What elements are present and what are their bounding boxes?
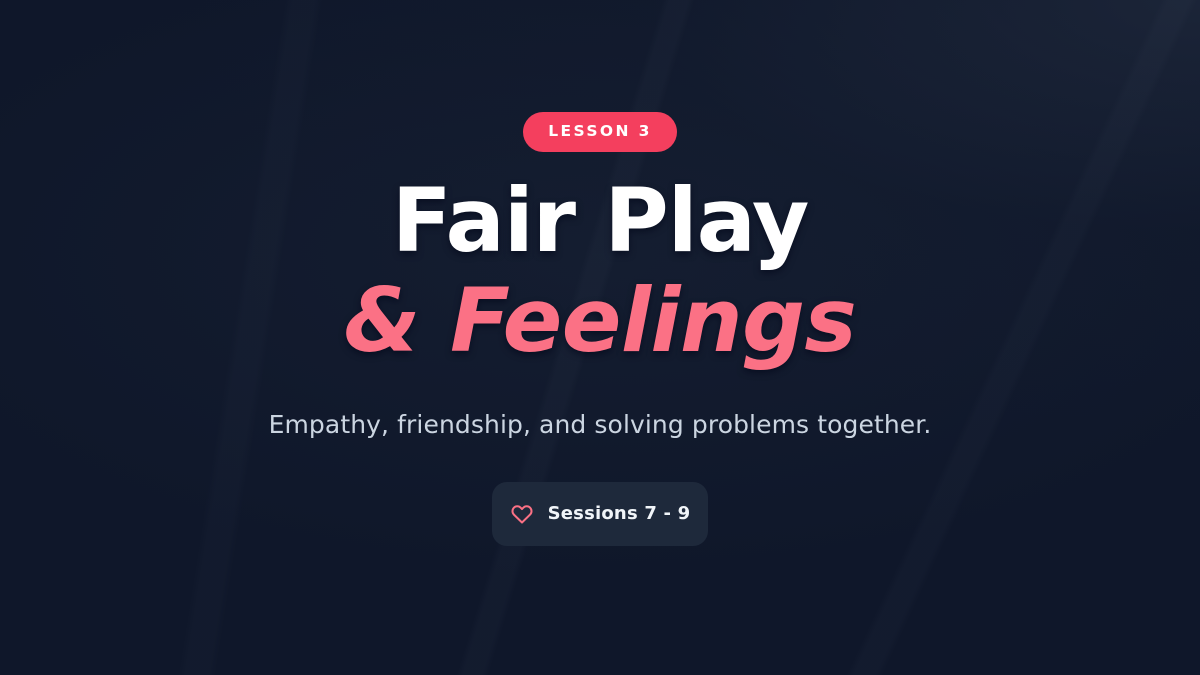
- slide-content: LESSON 3 Fair Play & Feelings Empathy, f…: [0, 0, 1200, 675]
- page-title: Fair Play & Feelings: [344, 176, 856, 366]
- page-subtitle: Empathy, friendship, and solving problem…: [269, 410, 932, 439]
- sessions-chip-label: Sessions 7 - 9: [548, 503, 691, 524]
- page-title-line-2: & Feelings: [344, 276, 856, 366]
- lesson-badge-label: LESSON 3: [548, 124, 652, 140]
- page-title-line-1: Fair Play: [344, 176, 856, 266]
- sessions-chip: Sessions 7 - 9: [492, 482, 708, 546]
- lesson-title-slide: LESSON 3 Fair Play & Feelings Empathy, f…: [0, 0, 1200, 675]
- lesson-badge: LESSON 3: [523, 112, 677, 152]
- heart-icon: [510, 502, 534, 526]
